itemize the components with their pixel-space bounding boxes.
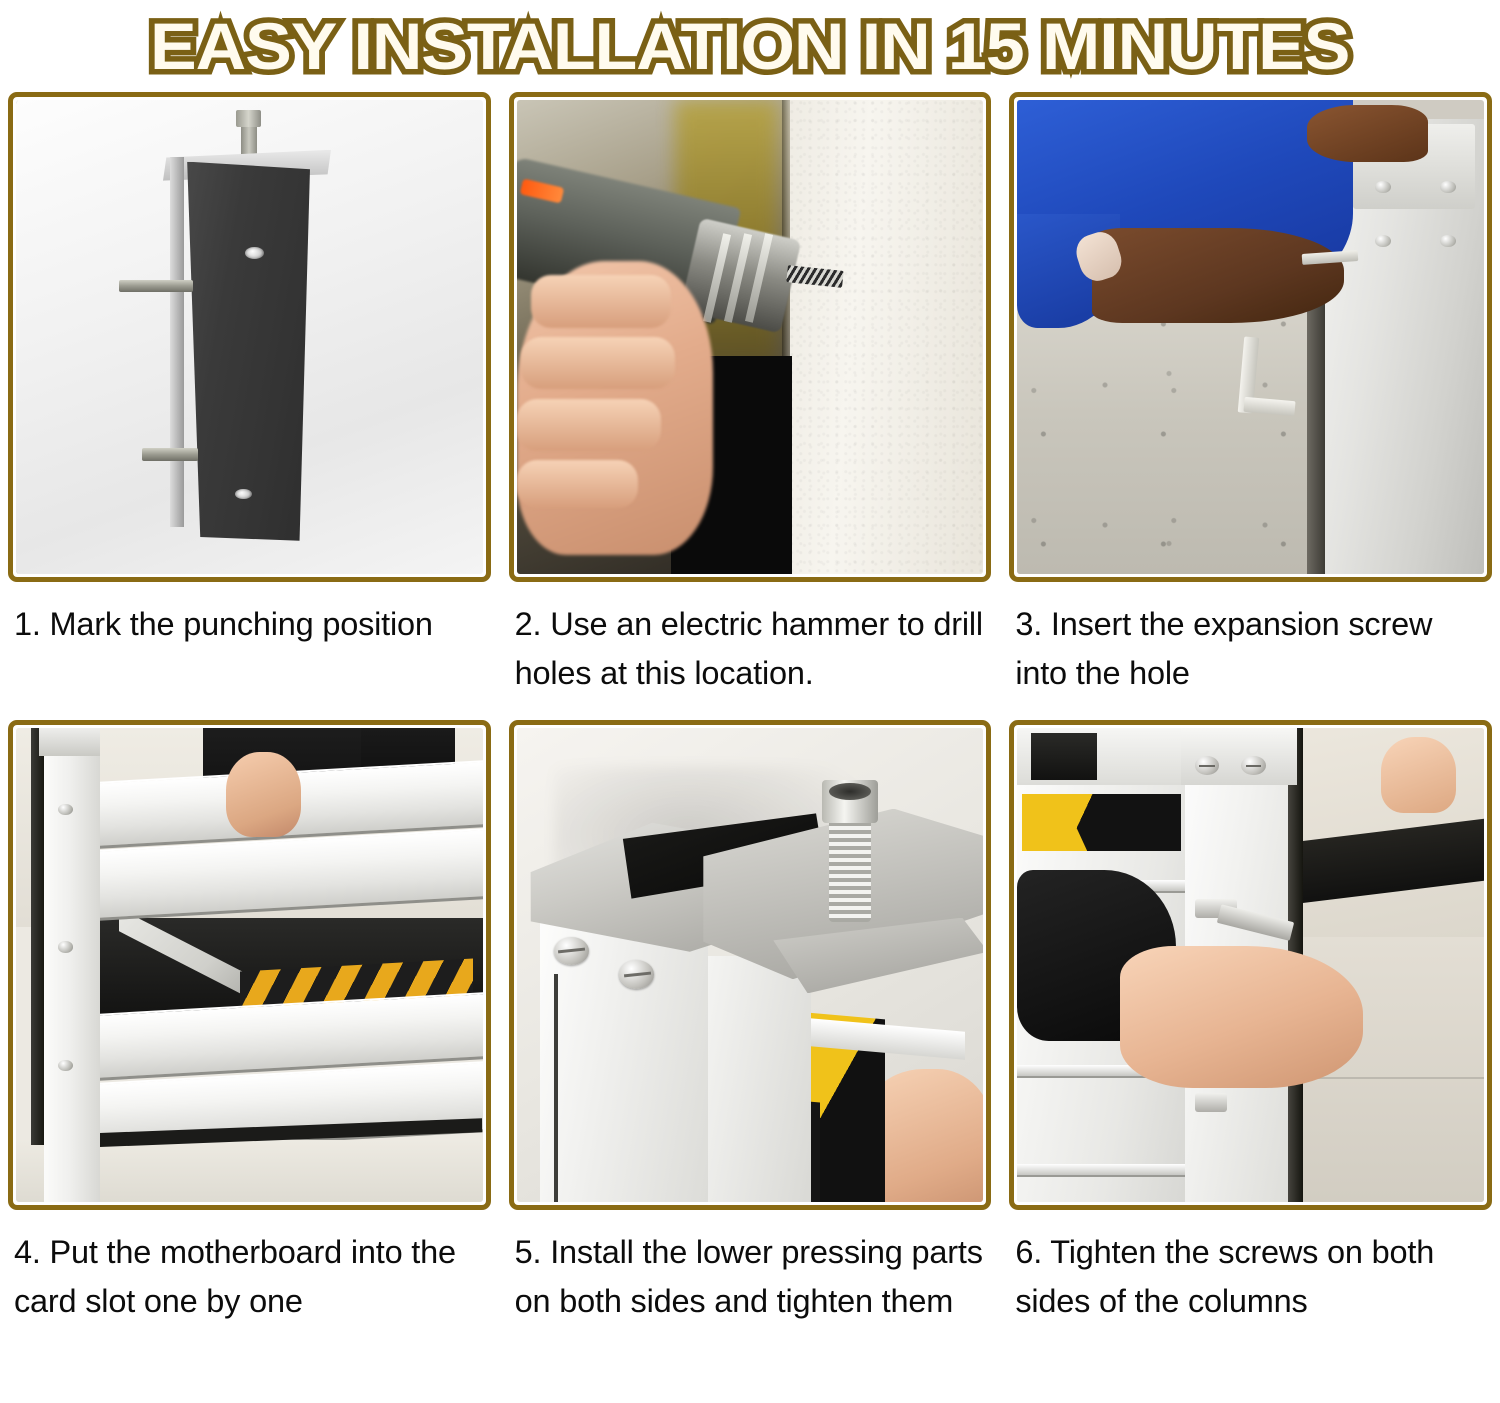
step-card-1: 1. Mark the punching position	[8, 92, 491, 702]
step-card-4: 4. Put the motherboard into the card slo…	[8, 720, 491, 1330]
page-header: EASY INSTALLATION IN 15 MINUTES	[0, 0, 1500, 92]
bolt-icon	[829, 783, 871, 800]
step-2-photo	[509, 92, 992, 582]
step-card-6: 6. Tighten the screws on both sides of t…	[1009, 720, 1492, 1330]
step-5-photo	[509, 720, 992, 1210]
step-card-5: 5. Install the lower pressing parts on b…	[509, 720, 992, 1330]
step-card-3: 3. Insert the expansion screw into the h…	[1009, 92, 1492, 702]
step-3-caption: 3. Insert the expansion screw into the h…	[1009, 582, 1492, 702]
step-4-photo	[8, 720, 491, 1210]
step-3-photo	[1009, 92, 1492, 582]
tighten-screws-illustration	[1017, 728, 1484, 1202]
board-card-slot-illustration	[16, 728, 483, 1202]
step-6-photo	[1009, 720, 1492, 1210]
installation-steps-grid: 1. Mark the punching position	[0, 92, 1500, 1330]
page-title: EASY INSTALLATION IN 15 MINUTES	[150, 13, 1349, 79]
step-1-photo	[8, 92, 491, 582]
pressing-bracket-illustration	[517, 728, 984, 1202]
expansion-screw-illustration	[1017, 100, 1484, 574]
step-1-caption: 1. Mark the punching position	[8, 582, 491, 702]
drill-wall-illustration	[517, 100, 984, 574]
step-4-caption: 4. Put the motherboard into the card slo…	[8, 1210, 491, 1330]
step-6-caption: 6. Tighten the screws on both sides of t…	[1009, 1210, 1492, 1330]
mounting-plate-illustration	[16, 100, 483, 574]
step-2-caption: 2. Use an electric hammer to drill holes…	[509, 582, 992, 702]
step-card-2: 2. Use an electric hammer to drill holes…	[509, 92, 992, 702]
step-5-caption: 5. Install the lower pressing parts on b…	[509, 1210, 992, 1330]
